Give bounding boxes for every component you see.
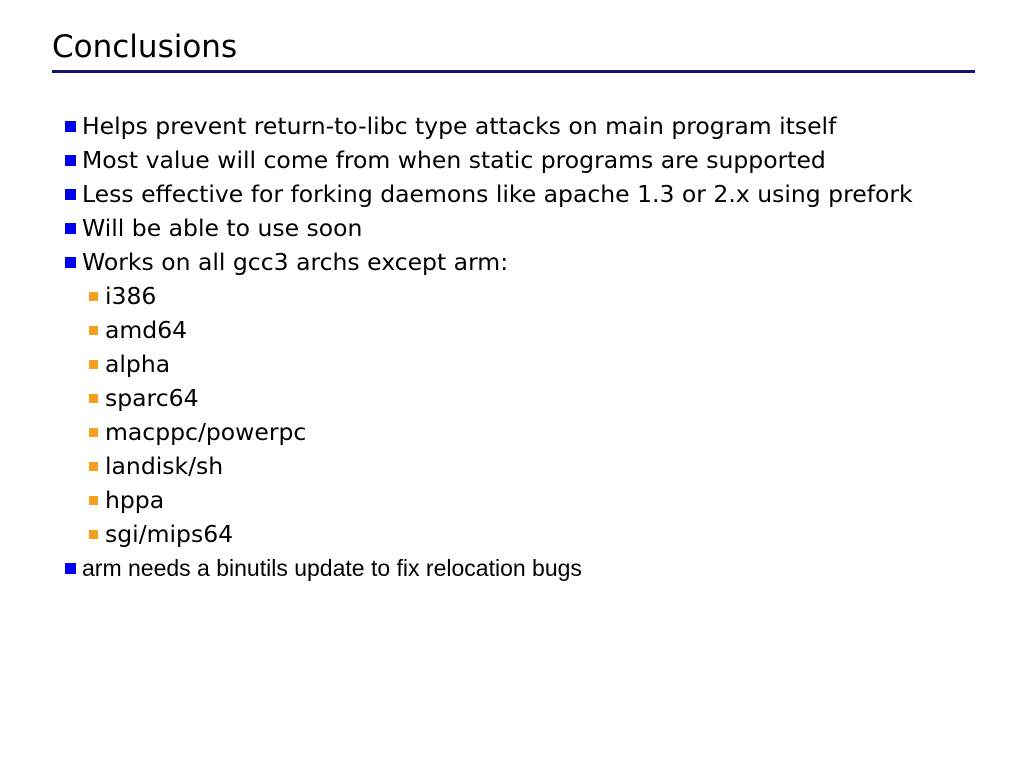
sub-list-item-label: sparc64 — [105, 381, 199, 415]
sub-list-item-label: i386 — [105, 279, 156, 313]
list-item-label: Helps prevent return-to-libc type attack… — [82, 109, 836, 143]
square-bullet-icon — [65, 189, 76, 200]
list-item-label: Will be able to use soon — [82, 211, 362, 245]
sub-bullet-list: i386 amd64 alpha sparc64 — [0, 279, 1024, 551]
square-bullet-icon — [65, 155, 76, 166]
sub-list-item: i386 — [0, 279, 1024, 313]
title-divider — [52, 70, 975, 73]
square-sub-bullet-icon — [89, 530, 98, 539]
square-sub-bullet-icon — [89, 428, 98, 437]
list-item-label: Less effective for forking daemons like … — [82, 177, 913, 211]
slide-header: Conclusions — [52, 28, 975, 73]
sub-list-item-label: hppa — [105, 483, 164, 517]
sub-list-item-label: macppc/powerpc — [105, 415, 306, 449]
list-item: Works on all gcc3 archs except arm: — [0, 245, 1024, 279]
sub-list-item-label: landisk/sh — [105, 449, 223, 483]
square-sub-bullet-icon — [89, 326, 98, 335]
square-sub-bullet-icon — [89, 462, 98, 471]
square-sub-bullet-icon — [89, 394, 98, 403]
square-bullet-icon — [65, 121, 76, 132]
page-title: Conclusions — [52, 28, 975, 66]
list-item: arm needs a binutils update to fix reloc… — [0, 551, 1024, 585]
list-item-label: Works on all gcc3 archs except arm: — [82, 245, 508, 279]
list-item: Will be able to use soon — [0, 211, 1024, 245]
sub-list-item: alpha — [0, 347, 1024, 381]
square-bullet-icon — [65, 257, 76, 268]
list-item: Most value will come from when static pr… — [0, 143, 1024, 177]
sub-list-item: sparc64 — [0, 381, 1024, 415]
sub-list-item: sgi/mips64 — [0, 517, 1024, 551]
sub-list-item: hppa — [0, 483, 1024, 517]
list-item-label: Most value will come from when static pr… — [82, 143, 826, 177]
square-sub-bullet-icon — [89, 360, 98, 369]
square-sub-bullet-icon — [89, 292, 98, 301]
square-bullet-icon — [65, 563, 76, 574]
sub-list-item: amd64 — [0, 313, 1024, 347]
sub-list-item: landisk/sh — [0, 449, 1024, 483]
list-item-label: arm needs a binutils update to fix reloc… — [82, 551, 582, 585]
list-item: Helps prevent return-to-libc type attack… — [0, 109, 1024, 143]
sub-list-item-label: amd64 — [105, 313, 187, 347]
presentation-slide: Conclusions Helps prevent return-to-libc… — [0, 0, 1024, 768]
slide-body: Helps prevent return-to-libc type attack… — [0, 109, 1024, 585]
sub-list-item: macppc/powerpc — [0, 415, 1024, 449]
square-bullet-icon — [65, 223, 76, 234]
list-item: Less effective for forking daemons like … — [0, 177, 1024, 211]
sub-list-item-label: alpha — [105, 347, 170, 381]
bullet-list: Helps prevent return-to-libc type attack… — [0, 109, 1024, 585]
square-sub-bullet-icon — [89, 496, 98, 505]
sublist-container: i386 amd64 alpha sparc64 — [0, 279, 1024, 551]
sub-list-item-label: sgi/mips64 — [105, 517, 233, 551]
